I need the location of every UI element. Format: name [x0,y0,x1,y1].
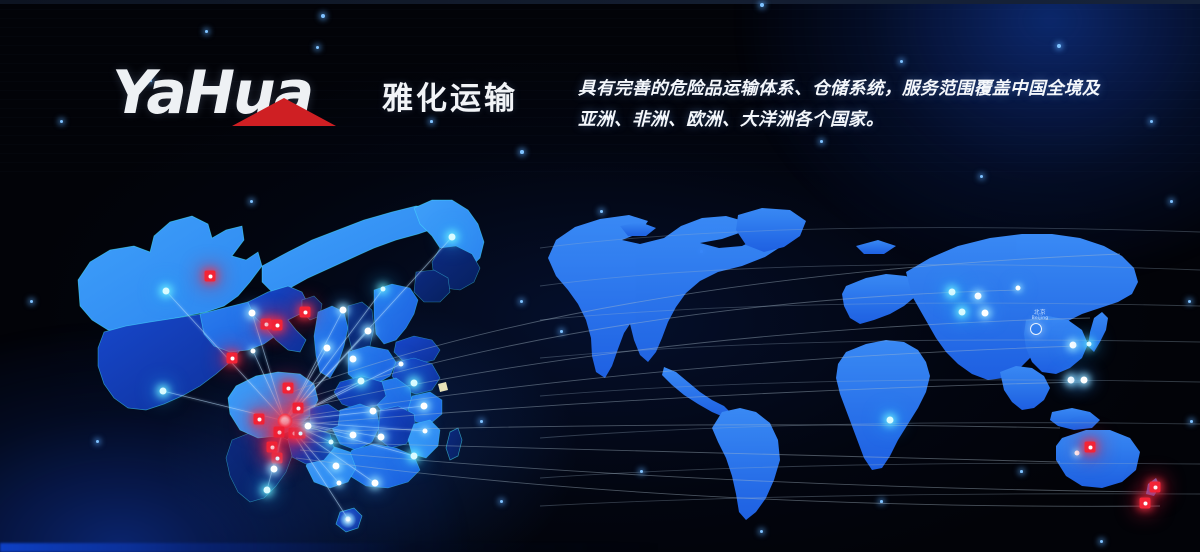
city-marker[interactable] [1075,451,1080,456]
city-marker[interactable] [381,287,386,292]
city-marker[interactable] [1070,342,1077,349]
red-roof-icon [232,98,336,126]
city-marker[interactable] [411,453,418,460]
beijing-marker-ring[interactable] [1030,323,1042,335]
banner-header: YaHua 雅化运输 具有完善的危险品运输体系、仓储系统，服务范围覆盖中国全境及… [0,0,1200,175]
city-marker[interactable] [959,309,966,316]
city-marker[interactable] [305,423,312,430]
city-marker[interactable] [449,234,456,241]
city-marker[interactable] [1087,342,1092,347]
city-marker[interactable] [333,463,340,470]
red-depot-marker[interactable] [283,383,294,394]
red-depot-marker[interactable] [274,427,285,438]
red-depot-marker[interactable] [1140,498,1151,509]
banner-tagline: 具有完善的危险品运输体系、仓储系统，服务范围覆盖中国全境及 亚洲、非洲、欧洲、大… [578,74,1138,136]
red-depot-marker[interactable] [227,353,238,364]
city-marker[interactable] [411,380,418,387]
city-marker[interactable] [1016,286,1021,291]
bottom-edge-glow [0,543,1200,552]
red-depot-marker[interactable] [261,319,272,330]
city-marker[interactable] [340,307,347,314]
city-marker[interactable] [163,288,170,295]
city-marker[interactable] [358,378,365,385]
red-depot-marker[interactable] [272,320,283,331]
city-marker[interactable] [350,432,357,439]
city-marker[interactable] [399,362,404,367]
city-marker[interactable] [370,408,377,415]
city-marker[interactable] [982,310,989,317]
red-depot-marker[interactable] [272,453,283,464]
city-marker[interactable] [887,417,894,424]
red-depot-marker[interactable] [295,428,306,439]
red-depot-marker[interactable] [267,442,278,453]
city-marker[interactable] [271,466,278,473]
city-marker[interactable] [251,349,256,354]
hero-banner: 北京 Beijing YaHua 雅化运输 具有完善的危险品运输体系、仓储系统，… [0,0,1200,552]
tagline-line-1: 具有完善的危险品运输体系、仓储系统，服务范围覆盖中国全境及 [578,74,1138,105]
city-marker[interactable] [337,481,342,486]
city-marker[interactable] [365,328,372,335]
beijing-label-en: Beijing [1032,317,1049,322]
city-marker[interactable] [378,434,385,441]
city-marker[interactable] [249,310,256,317]
city-marker[interactable] [423,429,428,434]
red-depot-marker[interactable] [1150,482,1161,493]
red-depot-marker[interactable] [1085,442,1096,453]
city-marker[interactable] [160,388,167,395]
beijing-label: 北京 Beijing [1032,311,1049,321]
city-marker[interactable] [372,480,379,487]
city-marker[interactable] [329,440,334,445]
city-marker[interactable] [975,293,982,300]
hainan-glow [340,512,356,528]
logo-wordmark-group: YaHua [112,62,364,128]
city-marker[interactable] [1068,377,1075,384]
red-depot-marker[interactable] [293,403,304,414]
red-depot-marker[interactable] [300,307,311,318]
brand-logo[interactable]: YaHua 雅化运输 [112,62,518,128]
city-marker[interactable] [1081,377,1088,384]
red-depot-marker[interactable] [254,414,265,425]
red-depot-marker[interactable] [205,271,216,282]
city-marker[interactable] [949,289,956,296]
city-marker[interactable] [324,345,331,352]
logo-chinese-name: 雅化运输 [382,73,518,118]
city-marker[interactable] [421,403,428,410]
tagline-line-2: 亚洲、非洲、欧洲、大洋洲各个国家。 [578,105,1138,136]
city-marker[interactable] [264,487,271,494]
city-marker[interactable] [350,356,357,363]
